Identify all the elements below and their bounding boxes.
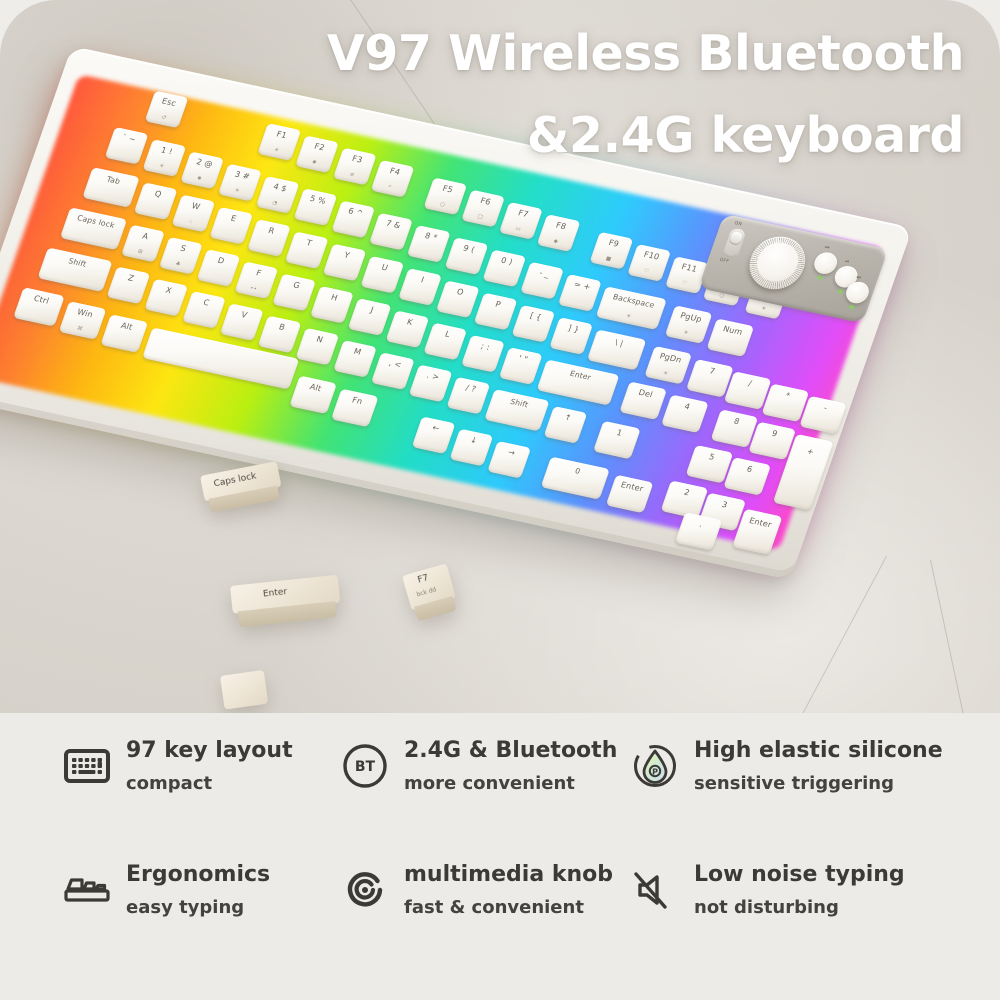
keycap[interactable]: U [360, 256, 404, 294]
keycap-legend: E [215, 211, 251, 227]
feature-text: High elastic silicone sensitive triggeri… [694, 735, 943, 797]
keycap-legend: N [302, 332, 338, 348]
keycap[interactable]: Q [134, 182, 178, 220]
keycap-legend: - [805, 400, 845, 417]
keycap[interactable]: - _ [520, 262, 564, 300]
keycap[interactable]: T [285, 231, 329, 269]
keycap-legend: 1 [599, 425, 639, 442]
keycap[interactable]: 0 ) [482, 250, 526, 288]
keycap[interactable]: F∙∙ [234, 261, 278, 299]
feature-multimedia-knob: multimedia knob fast & convenient [340, 859, 630, 921]
product-marketing-image: Esc↺F1☀F2✹F3≡F4⌕F5○F6□F7▭F8◆F9■F10♡F11♡F… [0, 0, 1000, 1000]
keycap-legend: R [253, 223, 289, 239]
keycap[interactable]: B [258, 316, 302, 354]
keycap[interactable]: K [386, 310, 430, 348]
keycap-legend: X [150, 283, 186, 299]
keycap[interactable]: Enter [537, 359, 620, 405]
keycap[interactable]: → [487, 441, 531, 479]
feature-title: Ergonomics [126, 861, 270, 889]
keycap-legend: 0 [547, 461, 609, 482]
feature-text: Low noise typing not disturbing [694, 859, 905, 921]
keycap-legend: Y [329, 248, 365, 264]
keycap-sublegend: ▭ [500, 223, 535, 236]
keycap-legend: 1 ! [149, 143, 185, 159]
feature-title: 2.4G & Bluetooth [404, 737, 617, 765]
keycap-legend: Win [65, 305, 105, 322]
silicone-icon-text: P [652, 767, 658, 776]
feature-title: Low noise typing [694, 861, 905, 889]
keycap-legend: . [681, 516, 721, 533]
prev-track-icon: ⏮ [824, 245, 830, 252]
keycap[interactable]: Esc↺ [145, 91, 189, 129]
keycap-sublegend: ☀ [666, 326, 705, 340]
switch-off-label: OFF [719, 258, 730, 265]
keycap-legend: 3 [704, 497, 744, 514]
keycap[interactable]: O [436, 280, 480, 318]
keycap-legend: [ { [518, 309, 554, 325]
keycap-legend: Backspace [602, 291, 666, 313]
keycap[interactable]: V [220, 303, 264, 341]
keycap-legend: F10 [633, 248, 669, 264]
keycap[interactable]: 6 ^ [331, 201, 375, 239]
feature-highlights-section: 97 key layout compact BT 2.4G & Bluetoot… [0, 713, 1000, 1000]
keycap[interactable]: ; : [461, 335, 505, 373]
keycap[interactable]: = + [558, 274, 602, 312]
keycap-legend: Enter [612, 479, 652, 496]
keycap-legend: 9 [754, 426, 794, 443]
keycap-sublegend: ⌘ [60, 322, 99, 336]
feature-97-key-layout: 97 key layout compact [40, 735, 340, 797]
keycap-legend: 9 ( [451, 242, 487, 258]
keycap-legend: Enter [543, 364, 618, 388]
keycap-sublegend: ◔ [257, 197, 292, 210]
keycap-legend: \ | [593, 334, 645, 353]
feature-subtitle: compact [126, 771, 293, 797]
keycap[interactable]: C [182, 291, 226, 329]
feature-subtitle: more convenient [404, 771, 617, 797]
keycap-legend: ↓ [456, 433, 492, 449]
keycap[interactable]: ↑ [544, 406, 588, 444]
keycap[interactable]: [ { [511, 305, 555, 343]
keycap[interactable]: \ | [587, 329, 646, 370]
keycap[interactable]: 0 [541, 457, 610, 500]
keycap[interactable]: R [247, 219, 291, 257]
keycap-legend: Shift [490, 393, 548, 413]
keycap-legend: 7 & [375, 217, 411, 233]
keycap-sublegend: ⊞ [122, 246, 157, 259]
keycap[interactable]: ← [412, 416, 456, 454]
keycap[interactable]: 1 !☀ [142, 139, 186, 177]
keycap[interactable]: I [398, 268, 442, 306]
keycap[interactable]: X [144, 279, 188, 317]
keycap-sublegend: ↺ [146, 112, 181, 125]
keycap[interactable]: 1 [593, 421, 641, 459]
keycap-legend: K [392, 315, 428, 331]
keycap-legend: Ctrl [19, 291, 63, 308]
keycap-legend: H [316, 290, 352, 306]
keycap-legend: 0 ) [489, 254, 525, 270]
keycap[interactable]: F10♡ [627, 244, 671, 282]
keycap[interactable]: P [474, 293, 518, 331]
keycap-legend: B [264, 320, 300, 336]
keycap[interactable]: ` ~ [105, 127, 149, 165]
feature-title: multimedia knob [404, 861, 613, 889]
keycap-legend: 3 # [224, 168, 260, 184]
keycap-legend: 2 [667, 485, 707, 502]
keycap[interactable]: D [197, 249, 241, 287]
keycap[interactable]: 9 ( [445, 237, 489, 275]
keycap-sublegend: ☀ [597, 307, 660, 326]
keycap[interactable]: F5○ [423, 177, 467, 215]
keycap-sublegend: ⌕ [372, 180, 408, 194]
keycap[interactable]: G [272, 274, 316, 312]
keycap-legend: Fn [337, 393, 377, 410]
keycap-legend: Enter [741, 514, 781, 531]
keycap[interactable]: / ? [446, 377, 490, 415]
feature-text: 97 key layout compact [126, 735, 293, 797]
title-line-2: &2.4G keyboard [204, 102, 964, 170]
bluetooth-badge-icon: BT [340, 741, 390, 791]
feature-text: 2.4G & Bluetooth more convenient [404, 735, 617, 797]
feature-text: multimedia knob fast & convenient [404, 859, 613, 921]
keycap-sublegend: ♡ [629, 265, 664, 278]
keycap[interactable]: N [295, 328, 339, 366]
keycap[interactable]: Shift [37, 247, 112, 291]
keycap-legend: F [241, 266, 277, 282]
keycap-legend: L [429, 327, 465, 343]
keycap[interactable]: ] } [549, 317, 593, 355]
switch-on-label: ON [734, 221, 743, 227]
keycap[interactable]: 6 [723, 457, 771, 495]
keycap[interactable]: F7▭ [499, 202, 543, 240]
keycap[interactable]: Num [706, 318, 754, 356]
keycap-legend: 8 * [413, 229, 449, 245]
keycap-sublegend: □ [462, 211, 497, 224]
keycap[interactable]: . > [409, 365, 453, 403]
next-track-led [850, 305, 854, 308]
keycap-sublegend: ■ [591, 253, 626, 266]
prev-track-led [818, 276, 822, 279]
keycap[interactable]: L [423, 323, 467, 361]
keycap-legend: F6 [467, 194, 503, 210]
feature-ergonomics: Ergonomics easy typing [40, 859, 340, 921]
keycap-legend: Caps lock [66, 212, 126, 233]
keycap[interactable]: Del [619, 381, 667, 419]
keycap[interactable]: Backspace☀ [596, 286, 667, 330]
title-line-1: V97 Wireless Bluetooth [204, 20, 964, 88]
keycap-legend: 6 ^ [337, 205, 373, 221]
keycap-legend: 4 $ [262, 180, 298, 196]
feature-subtitle: fast & convenient [404, 895, 613, 921]
ergonomic-keycaps-icon [62, 865, 112, 915]
keycap-legend: Tab [88, 171, 138, 190]
keycap-sublegend: ≡ [334, 169, 369, 182]
feature-row-top: 97 key layout compact BT 2.4G & Bluetoot… [40, 735, 960, 859]
keycap-sublegend: ☀ [144, 160, 179, 173]
keycap-legend: PgUp [671, 310, 711, 327]
keycap[interactable]: 4 $◔ [256, 176, 300, 214]
keycap-legend: ] } [555, 321, 591, 337]
play-pause-led [839, 290, 843, 293]
keycap-legend: ← [418, 421, 454, 437]
keycap-legend: * [768, 388, 808, 405]
keycap-legend: 8 [717, 414, 757, 431]
keycap-legend: I [404, 272, 440, 288]
keycap[interactable]: Caps lock [60, 207, 127, 250]
keycap-legend: P [480, 297, 516, 313]
keycap[interactable]: Win⌘ [59, 301, 107, 339]
power-slider-switch[interactable] [722, 228, 747, 260]
keycap-legend: → [493, 445, 529, 461]
keycap-legend: Shift [44, 252, 111, 275]
keycap-legend: J [354, 302, 390, 318]
keycap-legend: . > [415, 369, 451, 385]
keycap[interactable]: Alt [289, 376, 337, 414]
keycap-legend: , < [377, 357, 413, 373]
next-track-icon: ⏭ [856, 274, 862, 281]
keycap[interactable]: E [209, 207, 253, 245]
keycap-legend: M [339, 344, 375, 360]
feature-subtitle: sensitive triggering [694, 771, 943, 797]
keycap-legend: ' " [505, 351, 541, 367]
keycap[interactable]: PgUp☀ [665, 305, 713, 343]
keycap[interactable]: ' " [499, 347, 543, 385]
silicone-droplet-icon: P [630, 741, 680, 791]
keycap[interactable]: Z [107, 267, 151, 305]
keycap[interactable]: H [310, 286, 354, 324]
keycap[interactable]: Enter [606, 475, 654, 513]
product-title: V97 Wireless Bluetooth &2.4G keyboard [204, 20, 964, 170]
keycap-legend: / [730, 376, 770, 393]
feature-low-noise: Low noise typing not disturbing [630, 859, 960, 921]
keycap-legend: G [278, 278, 314, 294]
keycap-legend: A [127, 229, 163, 245]
keycap-legend: + [790, 443, 830, 460]
keycap[interactable]: F6□ [461, 190, 505, 228]
keycap[interactable]: 5 % [294, 188, 338, 226]
keycap-legend: 7 [692, 363, 732, 380]
keycap-legend: 5 % [300, 193, 336, 209]
keycap-legend: ; : [467, 339, 503, 355]
feature-row-bottom: Ergonomics easy typing multimedia knob f… [40, 859, 960, 983]
keycap-sublegend: ♣ [160, 258, 195, 271]
keycap-legend: F5 [430, 182, 466, 198]
keycap[interactable]: 7 & [369, 213, 413, 251]
keycap[interactable]: 8 * [407, 225, 451, 263]
keycap-legend: 6 [729, 461, 769, 478]
feature-bluetooth: BT 2.4G & Bluetooth more convenient [340, 735, 630, 797]
keycap-legend: F8 [543, 218, 579, 234]
keycap[interactable]: Shift [484, 389, 549, 431]
knob-spiral-icon [340, 865, 390, 915]
keycap-legend: Num [713, 323, 753, 340]
feature-subtitle: easy typing [126, 895, 270, 921]
keyboard-icon [62, 741, 112, 791]
keycap-legend: O [442, 285, 478, 301]
keycap[interactable]: PgDn☀ [644, 346, 692, 384]
keycap[interactable]: , < [371, 352, 415, 390]
keycap[interactable]: Y [323, 244, 367, 282]
keycap-legend: Alt [295, 380, 335, 397]
keycap[interactable]: Tab [82, 167, 140, 208]
muted-speaker-icon [630, 865, 680, 915]
keycap[interactable]: F9■ [589, 232, 633, 270]
keycap-legend: 4 [667, 399, 707, 416]
keycap[interactable]: M [333, 340, 377, 378]
keycap-legend: ` ~ [111, 131, 147, 147]
keycap-sublegend: ♡ [666, 277, 701, 290]
feature-silicone: P High elastic silicone sensitive trigge… [630, 735, 960, 797]
keycap-legend: Q [140, 187, 176, 203]
keycap-sublegend: ☀ [219, 185, 254, 198]
keycap[interactable]: 4 [661, 395, 709, 433]
keycap[interactable]: J [348, 298, 392, 336]
keycap-legend: 5 [692, 449, 732, 466]
keycap-legend: C [188, 295, 224, 311]
keycap-legend: F9 [596, 236, 632, 252]
keycap-legend: S [165, 241, 201, 257]
keycap-sublegend: ✹ [181, 173, 216, 186]
keycap-legend: Esc [151, 95, 187, 111]
keycap-legend: - _ [526, 266, 562, 282]
keycap-sublegend: ∴ [173, 216, 208, 229]
hero-product-photo: Esc↺F1☀F2✹F3≡F4⌕F5○F6□F7▭F8◆F9■F10♡F11♡F… [0, 0, 1000, 713]
keycap-legend: F7 [505, 206, 541, 222]
keycap-legend: Z [113, 271, 149, 287]
keycap-legend: / ? [453, 381, 489, 397]
keycap-sublegend: ∙∙ [236, 283, 271, 296]
keycap-legend: PgDn [650, 350, 690, 367]
keycap-legend: ↑ [550, 410, 586, 426]
keycap-legend: D [203, 253, 239, 269]
keycap-sublegend: ☀ [646, 367, 685, 381]
keycap[interactable]: Ctrl [13, 287, 65, 326]
feature-title: High elastic silicone [694, 737, 943, 765]
feature-subtitle: not disturbing [694, 895, 905, 921]
keycap[interactable]: S♣ [159, 237, 203, 275]
keycap[interactable]: ↓ [449, 429, 493, 467]
feature-title: 97 key layout [126, 737, 293, 765]
keycap-legend: Del [625, 386, 665, 403]
feature-text: Ergonomics easy typing [126, 859, 270, 921]
keycap-legend: Alt [107, 319, 147, 336]
keycap-legend: V [226, 308, 262, 324]
keycap[interactable]: Fn [331, 389, 379, 427]
keycap-legend: = + [564, 278, 600, 294]
play-pause-icon: ⏯ [844, 258, 850, 265]
bt-icon-text: BT [355, 759, 376, 775]
keycap[interactable]: F8◆ [537, 214, 581, 252]
keycap-sublegend: ◆ [538, 235, 573, 248]
keycap[interactable]: W∴ [171, 195, 215, 233]
keycap-legend: W [178, 199, 214, 215]
keycap[interactable]: A⊞ [121, 225, 165, 263]
keycap[interactable]: Alt [100, 314, 148, 352]
keycap-sublegend: ○ [425, 199, 460, 212]
keycap-legend: U [366, 260, 402, 276]
volume-knob[interactable] [742, 232, 813, 295]
keycap-legend: T [291, 236, 327, 252]
